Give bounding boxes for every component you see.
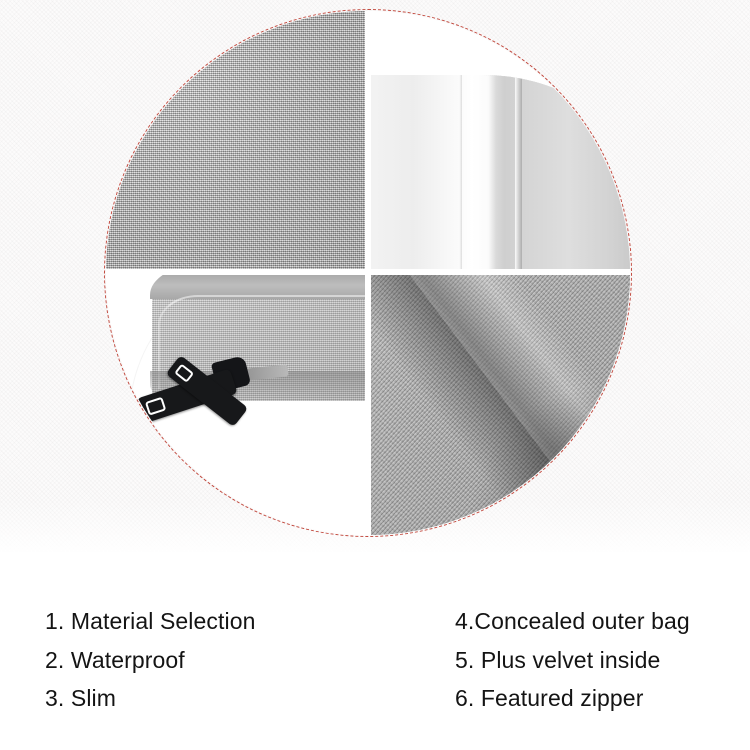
feature-item-5: 5. Plus velvet inside bbox=[455, 641, 690, 680]
zipper-pull-primary-hole bbox=[145, 397, 166, 416]
velvet-fabric-texture bbox=[371, 75, 630, 269]
collage-quadrant-zipper-detail bbox=[106, 275, 365, 535]
product-collage bbox=[106, 11, 630, 535]
zipper-stage bbox=[106, 275, 365, 535]
feature-list: 1. Material Selection 2. Waterproof 3. S… bbox=[0, 552, 750, 750]
velvet-photo-mask bbox=[371, 75, 630, 269]
velvet-fold-highlight bbox=[459, 75, 462, 269]
zipper-pull-secondary-hole bbox=[174, 363, 194, 382]
collage-quadrant-outer-fabric bbox=[371, 275, 630, 535]
feature-item-6: 6. Featured zipper bbox=[455, 679, 690, 718]
feature-item-3: 3. Slim bbox=[45, 679, 255, 718]
feature-item-1: 1. Material Selection bbox=[45, 602, 255, 641]
feature-item-2: 2. Waterproof bbox=[45, 641, 255, 680]
feature-list-right-column: 4.Concealed outer bag 5. Plus velvet ins… bbox=[455, 552, 690, 718]
velvet-edge-highlight bbox=[515, 75, 522, 269]
collage-quadrant-material-linen bbox=[106, 11, 365, 269]
collage-quadrant-velvet-lining bbox=[371, 11, 630, 269]
feature-item-4: 4.Concealed outer bag bbox=[455, 602, 690, 641]
twill-corner-shading bbox=[470, 385, 630, 535]
linen-fabric-texture bbox=[106, 11, 365, 269]
infographic-page: 1. Material Selection 2. Waterproof 3. S… bbox=[0, 0, 750, 750]
velvet-stage bbox=[371, 11, 630, 269]
feature-list-left-column: 1. Material Selection 2. Waterproof 3. S… bbox=[45, 552, 255, 718]
